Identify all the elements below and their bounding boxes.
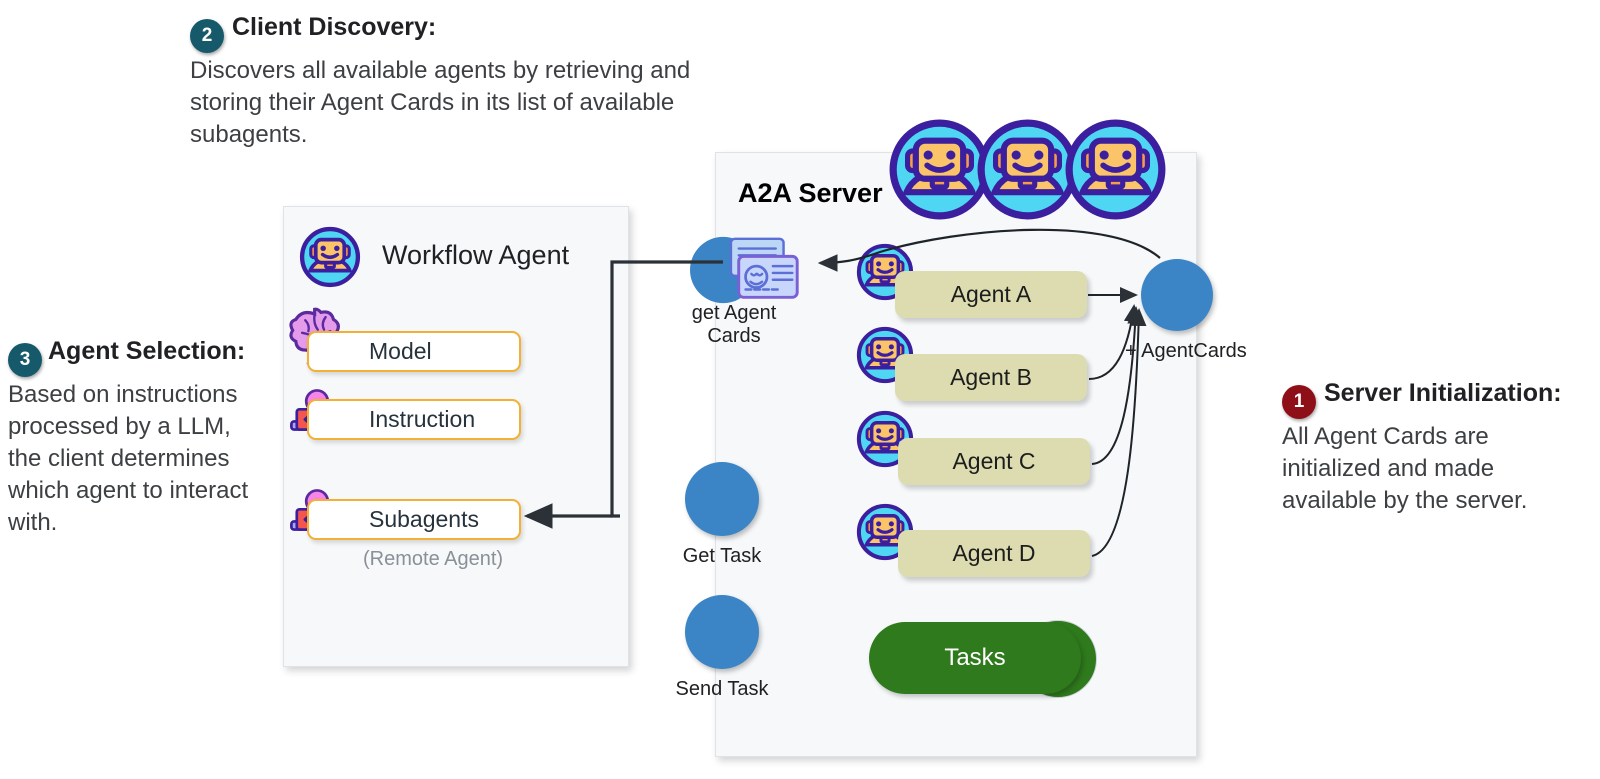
arrow-agent-b-to-registry xyxy=(1089,306,1134,379)
arrow-agent-d-to-registry xyxy=(1092,310,1139,556)
arrow-registry-to-get-cards xyxy=(820,230,1160,263)
connector-layer xyxy=(0,0,1600,779)
connector-workflow-to-cards xyxy=(612,262,723,516)
